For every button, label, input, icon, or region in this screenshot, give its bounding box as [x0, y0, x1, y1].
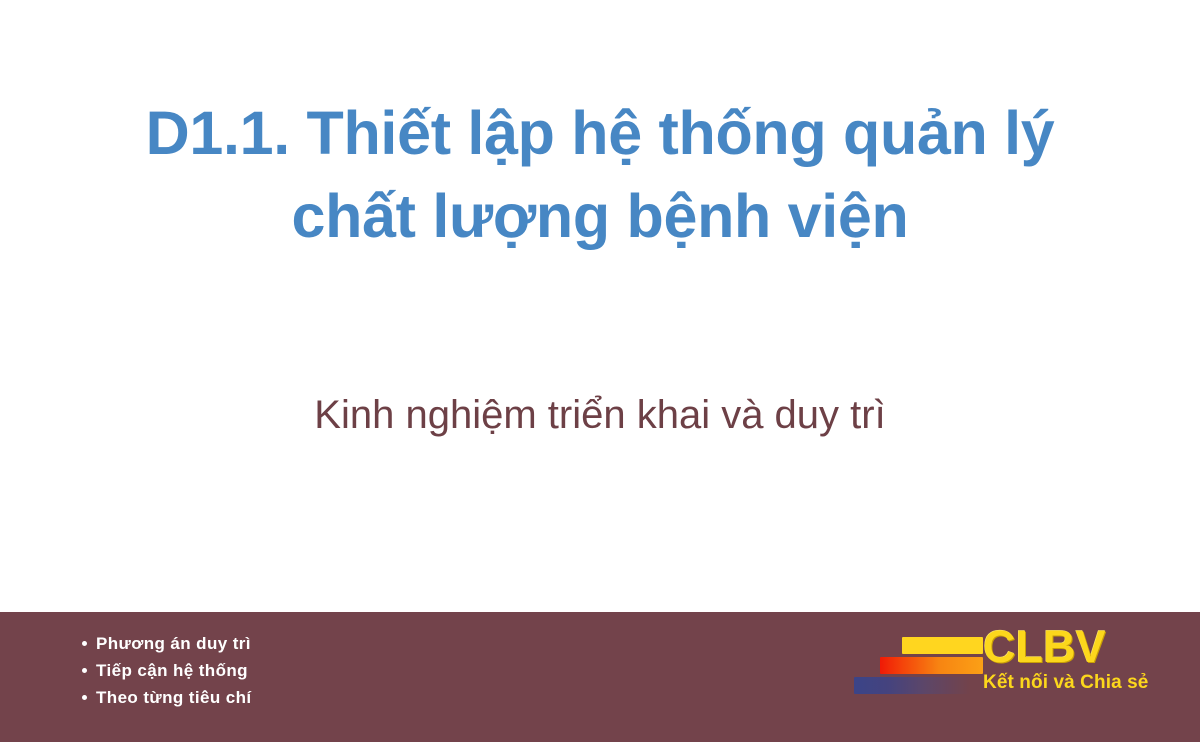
bullet-dot-icon [82, 695, 87, 700]
footer-bullet-list: Phương án duy trì Tiếp cận hệ thống Theo… [82, 630, 252, 711]
footer-inner: Phương án duy trì Tiếp cận hệ thống Theo… [0, 612, 1200, 742]
logo-bars-icon [866, 624, 996, 702]
clbv-logo: CLBV Kết nối và Chia sẻ [866, 624, 1166, 724]
list-item: Tiếp cận hệ thống [82, 657, 252, 684]
bullet-label: Theo từng tiêu chí [96, 684, 252, 711]
subtitle-block: Kinh nghiệm triển khai và duy trì [0, 391, 1200, 440]
presentation-slide: D1.1. Thiết lập hệ thống quản lý chất lư… [0, 0, 1200, 742]
bullet-label: Phương án duy trì [96, 630, 251, 657]
logo-text-group: CLBV Kết nối và Chia sẻ [983, 624, 1168, 695]
logo-blue-bar-icon [854, 677, 970, 694]
footer-bar: Phương án duy trì Tiếp cận hệ thống Theo… [0, 612, 1200, 742]
bullet-label: Tiếp cận hệ thống [96, 657, 248, 684]
list-item: Theo từng tiêu chí [82, 684, 252, 711]
logo-yellow-bar-icon [902, 637, 983, 654]
title-block: D1.1. Thiết lập hệ thống quản lý chất lư… [0, 92, 1200, 258]
bullet-dot-icon [82, 641, 87, 646]
logo-tagline: Kết nối và Chia sẻ [983, 671, 1168, 695]
bullet-dot-icon [82, 668, 87, 673]
logo-red-orange-bar-icon [880, 657, 983, 674]
logo-name: CLBV [983, 624, 1168, 670]
list-item: Phương án duy trì [82, 630, 252, 657]
slide-title: D1.1. Thiết lập hệ thống quản lý chất lư… [80, 92, 1120, 258]
slide-subtitle: Kinh nghiệm triển khai và duy trì [60, 391, 1140, 440]
